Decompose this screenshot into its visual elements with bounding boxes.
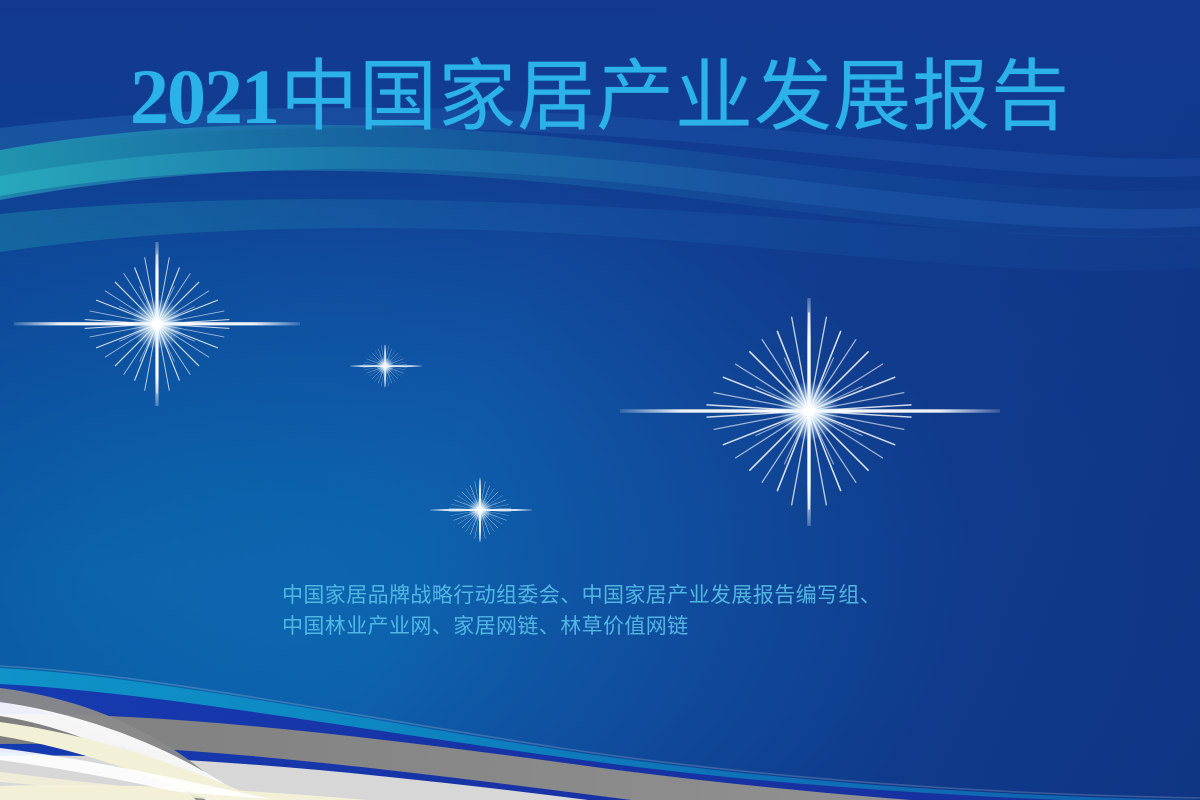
- cover-slide: 2021中国家居产业发展报告 中国家居品牌战略行动组委会、中国家居产业发展报告编…: [0, 0, 1200, 800]
- bottom-wave-bands: [0, 0, 1200, 800]
